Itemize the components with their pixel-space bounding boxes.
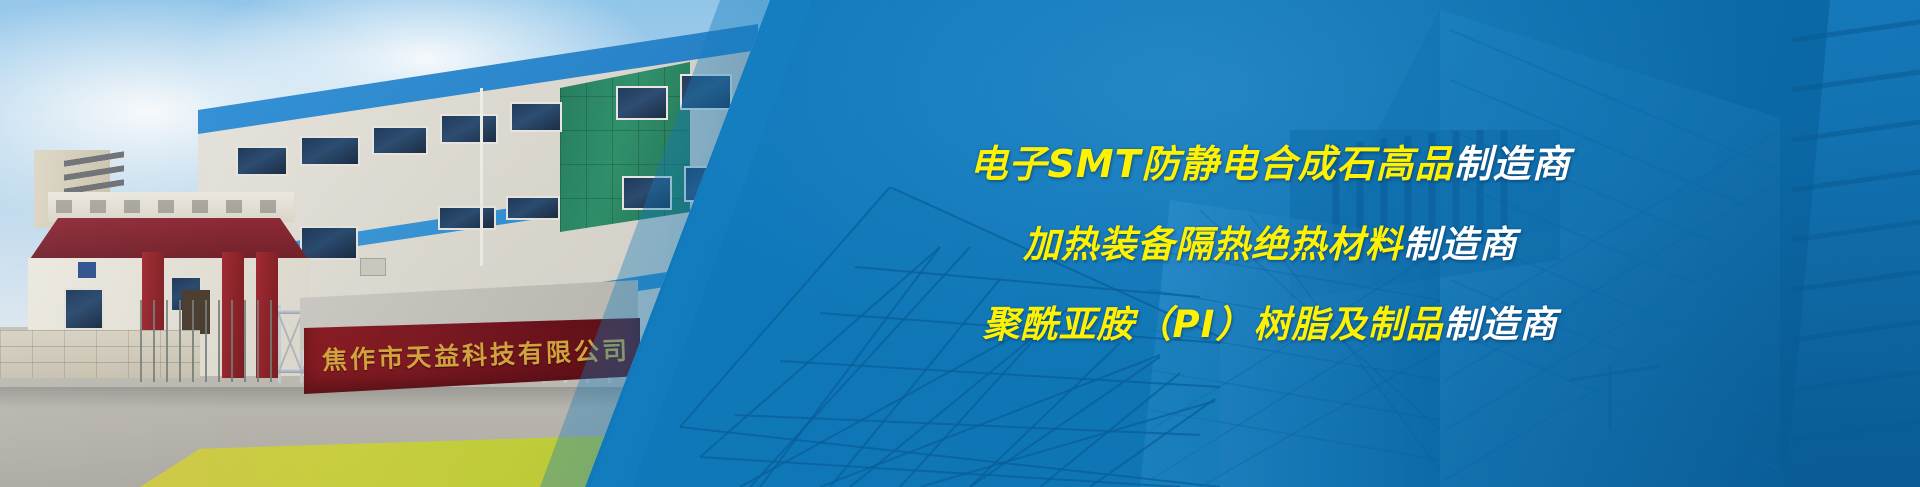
metal-fence <box>140 300 280 382</box>
truss-dome-graphic <box>640 187 1220 487</box>
hero-banner: 焦作市天益科技有限公司 电子SMT防静电合成石高品制造商 加热装备隔热绝热材料制… <box>0 0 1920 487</box>
air-conditioner-unit <box>360 258 386 276</box>
window <box>64 288 104 330</box>
window <box>438 206 496 230</box>
window <box>236 146 288 176</box>
window <box>440 114 498 144</box>
window <box>300 226 358 260</box>
window <box>616 86 668 120</box>
pavilion-parapet <box>48 192 294 222</box>
window <box>372 126 428 155</box>
window <box>300 136 360 166</box>
window <box>680 74 732 110</box>
flagpole <box>480 88 483 266</box>
door-plaque <box>78 262 96 278</box>
window <box>506 196 560 220</box>
window <box>510 102 562 132</box>
modern-building-silhouette <box>1140 0 1920 487</box>
window <box>622 176 672 210</box>
